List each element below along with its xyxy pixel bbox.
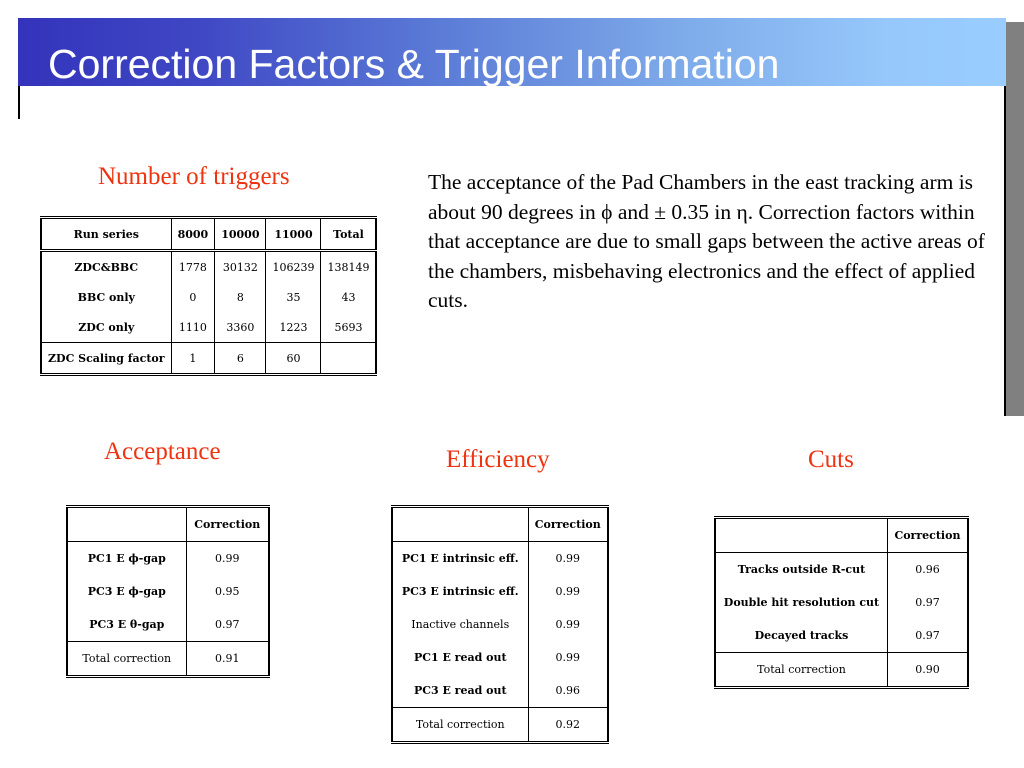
row-value: 138149 (321, 251, 377, 283)
table-header-row: Correction (715, 518, 968, 553)
table-footer-row: Total correction 0.92 (392, 708, 608, 743)
row-value: 0.99 (528, 608, 608, 641)
row-label: PC3 E ϕ-gap (67, 575, 186, 608)
row-label: Double hit resolution cut (715, 586, 887, 619)
cuts-table: Correction Tracks outside R-cut 0.96 Dou… (714, 516, 969, 689)
footer-value: 60 (266, 343, 321, 375)
header-cell-blank (715, 518, 887, 553)
table-row: Inactive channels 0.99 (392, 608, 608, 641)
row-value: 1223 (266, 312, 321, 343)
row-value: 0.96 (887, 553, 968, 587)
row-label: Tracks outside R-cut (715, 553, 887, 587)
table-header-row: Correction (67, 507, 269, 542)
footer-value: 0.92 (528, 708, 608, 743)
row-value: 106239 (266, 251, 321, 283)
row-label: Inactive channels (392, 608, 528, 641)
title-underline-accent (18, 86, 20, 119)
row-value: 0.99 (528, 575, 608, 608)
row-value: 0.97 (887, 619, 968, 653)
row-label: ZDC&BBC (41, 251, 171, 283)
row-value: 0.97 (887, 586, 968, 619)
row-label: Decayed tracks (715, 619, 887, 653)
body-paragraph: The acceptance of the Pad Chambers in th… (428, 168, 1000, 316)
row-value: 1110 (171, 312, 215, 343)
row-value: 35 (266, 282, 321, 312)
row-label: PC3 E θ-gap (67, 608, 186, 642)
row-value: 30132 (215, 251, 266, 283)
table-header-row: Run series 8000 10000 11000 Total (41, 218, 376, 251)
footer-label: Total correction (715, 653, 887, 688)
row-label: BBC only (41, 282, 171, 312)
header-cell-correction: Correction (887, 518, 968, 553)
table-row: PC3 E intrinsic eff. 0.99 (392, 575, 608, 608)
footer-value: 0.91 (186, 642, 269, 677)
row-value: 43 (321, 282, 377, 312)
footer-value (321, 343, 377, 375)
triggers-table: Run series 8000 10000 11000 Total ZDC&BB… (40, 216, 377, 376)
row-value: 8 (215, 282, 266, 312)
row-value: 0.99 (528, 641, 608, 674)
row-value: 0.99 (528, 542, 608, 576)
table-row: PC3 E read out 0.96 (392, 674, 608, 708)
slide-right-shadow (1006, 22, 1024, 416)
table-row: ZDC&BBC 1778 30132 106239 138149 (41, 251, 376, 283)
row-value: 0.99 (186, 542, 269, 576)
footer-value: 0.90 (887, 653, 968, 688)
table-header-row: Correction (392, 507, 608, 542)
table-row: PC3 E ϕ-gap 0.95 (67, 575, 269, 608)
section-heading-acceptance: Acceptance (104, 438, 221, 466)
header-cell-11000: 11000 (266, 218, 321, 251)
row-label: PC1 E ϕ-gap (67, 542, 186, 576)
table-row: Decayed tracks 0.97 (715, 619, 968, 653)
footer-value: 1 (171, 343, 215, 375)
section-heading-triggers: Number of triggers (98, 163, 290, 191)
table-row: PC3 E θ-gap 0.97 (67, 608, 269, 642)
efficiency-table: Correction PC1 E intrinsic eff. 0.99 PC3… (391, 505, 609, 744)
row-value: 0.95 (186, 575, 269, 608)
footer-label: Total correction (67, 642, 186, 677)
table-row: BBC only 0 8 35 43 (41, 282, 376, 312)
row-value: 1778 (171, 251, 215, 283)
header-cell-total: Total (321, 218, 377, 251)
header-cell-correction: Correction (528, 507, 608, 542)
header-cell-run-series: Run series (41, 218, 171, 251)
row-label: PC1 E read out (392, 641, 528, 674)
row-label: PC3 E read out (392, 674, 528, 708)
header-cell-10000: 10000 (215, 218, 266, 251)
table-row: PC1 E ϕ-gap 0.99 (67, 542, 269, 576)
row-value: 5693 (321, 312, 377, 343)
row-label: ZDC only (41, 312, 171, 343)
footer-value: 6 (215, 343, 266, 375)
header-cell-blank (392, 507, 528, 542)
section-heading-efficiency: Efficiency (446, 446, 550, 474)
row-value: 0.97 (186, 608, 269, 642)
row-label: PC1 E intrinsic eff. (392, 542, 528, 576)
table-row: Tracks outside R-cut 0.96 (715, 553, 968, 587)
page-title: Correction Factors & Trigger Information (48, 42, 779, 86)
row-value: 0 (171, 282, 215, 312)
footer-label: ZDC Scaling factor (41, 343, 171, 375)
table-row: PC1 E read out 0.99 (392, 641, 608, 674)
acceptance-table: Correction PC1 E ϕ-gap 0.99 PC3 E ϕ-gap … (66, 505, 270, 678)
header-cell-blank (67, 507, 186, 542)
table-footer-row: Total correction 0.91 (67, 642, 269, 677)
slide-title-bar: Correction Factors & Trigger Information (18, 18, 1006, 86)
table-footer-row: Total correction 0.90 (715, 653, 968, 688)
slide-right-border-line (1004, 86, 1006, 416)
table-row: ZDC only 1110 3360 1223 5693 (41, 312, 376, 343)
table-row: PC1 E intrinsic eff. 0.99 (392, 542, 608, 576)
table-footer-row: ZDC Scaling factor 1 6 60 (41, 343, 376, 375)
table-row: Double hit resolution cut 0.97 (715, 586, 968, 619)
footer-label: Total correction (392, 708, 528, 743)
header-cell-8000: 8000 (171, 218, 215, 251)
row-value: 0.96 (528, 674, 608, 708)
section-heading-cuts: Cuts (808, 446, 854, 474)
row-label: PC3 E intrinsic eff. (392, 575, 528, 608)
row-value: 3360 (215, 312, 266, 343)
header-cell-correction: Correction (186, 507, 269, 542)
